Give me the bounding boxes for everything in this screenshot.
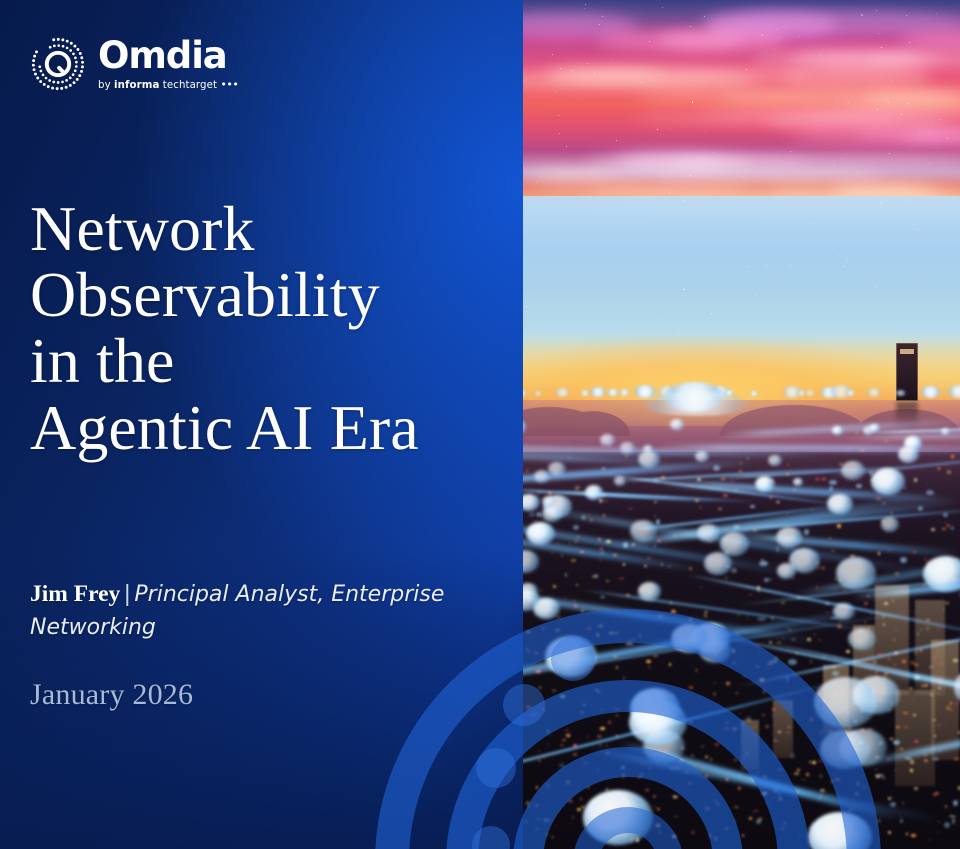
omdia-wordmark: Omdia: [98, 37, 238, 74]
cover-photograph: [523, 0, 960, 849]
title-line-3: in the: [30, 328, 510, 394]
title-line-4: Agentic AI Era: [30, 395, 510, 461]
tagline-informa: informa: [114, 80, 159, 91]
sky-haze: [523, 196, 960, 346]
omdia-logo[interactable]: Omdia by informa techtarget •••: [30, 36, 238, 92]
publication-date: January 2026: [30, 678, 193, 712]
byline-separator: |: [120, 580, 134, 606]
tagline-suffix: techtarget: [159, 80, 217, 91]
omdia-tagline: by informa techtarget •••: [98, 79, 238, 91]
author-name: Jim Frey: [30, 581, 120, 607]
report-cover: Omdia by informa techtarget ••• Network …: [0, 0, 960, 849]
author-byline: Jim Frey|Principal Analyst, Enterprise N…: [30, 578, 460, 643]
title-line-1: Network: [30, 196, 510, 262]
tagline-dots-icon: •••: [220, 78, 238, 91]
tagline-prefix: by: [98, 80, 114, 91]
page-title: Network Observability in the Agentic AI …: [30, 196, 510, 461]
omdia-dotted-ring-logo-icon: [30, 36, 86, 92]
title-line-2: Observability: [30, 262, 510, 328]
